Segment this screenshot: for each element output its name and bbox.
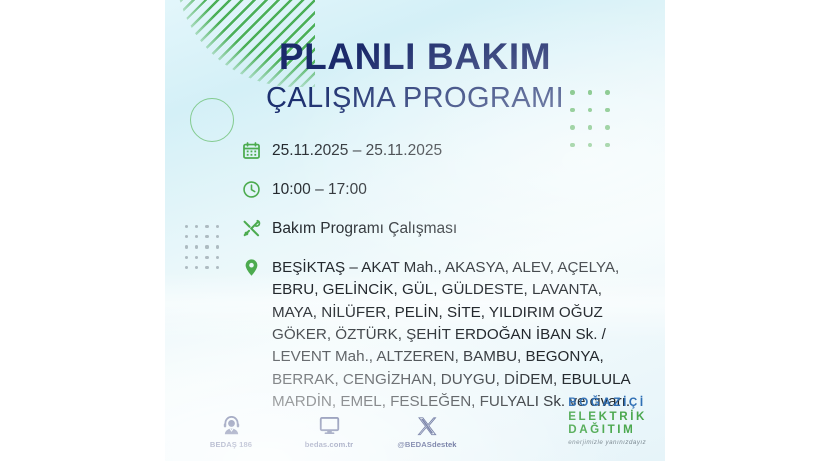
- contact-phone[interactable]: BEDAŞ 186: [193, 410, 269, 449]
- contact-social[interactable]: @BEDASdestek: [389, 410, 465, 449]
- screenshot-canvas: PLANLI BAKIM ÇALIŞMA PROGRAMI: [0, 0, 820, 461]
- poster-headline: PLANLI BAKIM: [165, 38, 665, 75]
- contact-channels: BEDAŞ 186 bedas.com.tr: [193, 410, 465, 449]
- poster-info-list: 25.11.2025 – 25.11.2025 10:00 – 17:00: [242, 140, 642, 413]
- maintenance-notice-poster: PLANLI BAKIM ÇALIŞMA PROGRAMI: [165, 0, 665, 461]
- x-social-icon: [389, 410, 465, 436]
- info-row-worktype: Bakım Programı Çalışması: [242, 218, 642, 243]
- contact-social-label: @BEDASdestek: [389, 440, 465, 449]
- poster-subheadline: ÇALIŞMA PROGRAMI: [165, 84, 665, 113]
- logo-line-3: DAĞITIM: [568, 423, 647, 437]
- contact-phone-label: BEDAŞ 186: [193, 440, 269, 449]
- contact-website-label: bedas.com.tr: [291, 440, 367, 449]
- info-row-time: 10:00 – 17:00: [242, 179, 642, 204]
- support-agent-icon: [193, 410, 269, 436]
- tools-icon: [242, 218, 268, 243]
- info-row-date: 25.11.2025 – 25.11.2025: [242, 140, 642, 165]
- work-type-text: Bakım Programı Çalışması: [268, 218, 457, 240]
- poster-footer: BEDAŞ 186 bedas.com.tr: [165, 397, 665, 449]
- info-row-address: BEŞİKTAŞ – AKAT Mah., AKASYA, ALEV, AÇEL…: [242, 257, 642, 413]
- date-range-text: 25.11.2025 – 25.11.2025: [268, 140, 442, 162]
- contact-website[interactable]: bedas.com.tr: [291, 410, 367, 449]
- clock-icon: [242, 179, 268, 204]
- calendar-icon: [242, 140, 268, 165]
- time-range-text: 10:00 – 17:00: [268, 179, 367, 201]
- address-text: BEŞİKTAŞ – AKAT Mah., AKASYA, ALEV, AÇEL…: [268, 257, 642, 413]
- location-pin-icon: [242, 257, 268, 282]
- dot-grid-decoration-left: [185, 225, 219, 269]
- logo-slogan: enerjimizle yanınızdayız: [568, 439, 647, 446]
- bedas-logo: BOĞAZİÇİ ELEKTRİK DAĞITIM enerjimizle ya…: [568, 396, 647, 446]
- monitor-icon: [291, 410, 367, 436]
- logo-line-1: BOĞAZİÇİ: [568, 396, 647, 410]
- logo-line-2: ELEKTRİK: [568, 410, 647, 424]
